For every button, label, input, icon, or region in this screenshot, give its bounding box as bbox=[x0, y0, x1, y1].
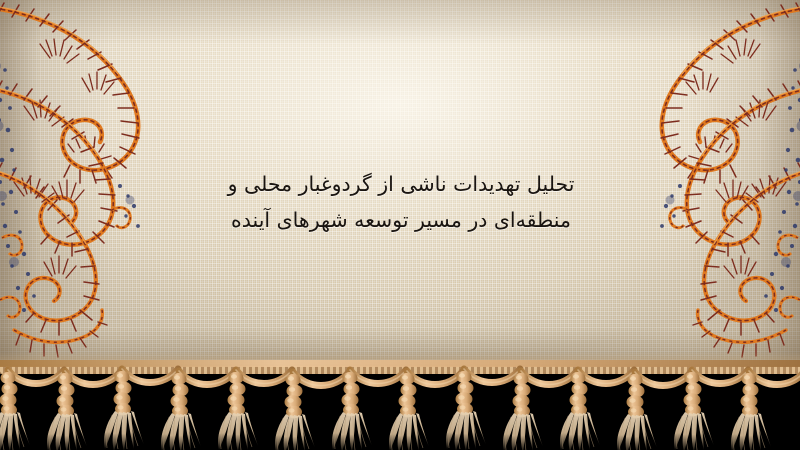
slide-title: تحلیل تهدیدات ناشی از گردوغبار محلی و من… bbox=[196, 166, 606, 238]
title-line-1: تحلیل تهدیدات ناشی از گردوغبار محلی و bbox=[196, 166, 606, 202]
title-slide: تحلیل تهدیدات ناشی از گردوغبار محلی و من… bbox=[0, 0, 800, 450]
title-line-2: منطقه‌ای در مسیر توسعه شهرهای آینده bbox=[196, 202, 606, 238]
tassel-fringe bbox=[0, 360, 800, 450]
tassel-row bbox=[0, 369, 800, 450]
